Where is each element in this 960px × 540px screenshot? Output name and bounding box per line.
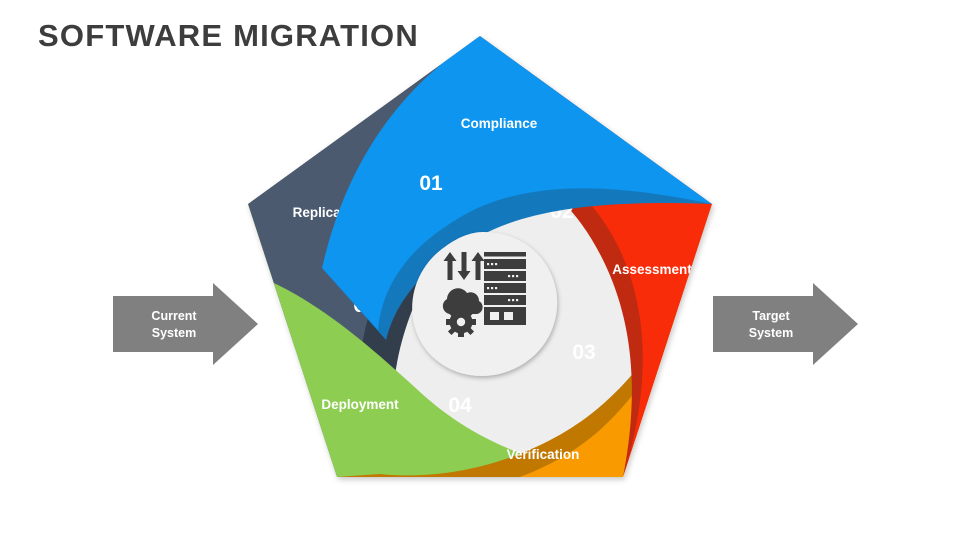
arrow-target-system-line2: System (749, 326, 793, 340)
segment-01-label: Compliance (461, 116, 538, 131)
slide-canvas: SOFTWARE MIGRATION Replication 05 (0, 0, 960, 540)
arrow-target-system[interactable]: Target System (713, 283, 858, 365)
arrow-current-system[interactable]: Current System (113, 283, 258, 365)
arrow-target-system-shape (713, 283, 858, 365)
segment-02-label: Assessment (612, 262, 692, 277)
segment-04-label: Deployment (321, 397, 399, 412)
segment-01-number: 01 (419, 172, 443, 195)
segment-04-number: 04 (448, 394, 472, 417)
arrow-current-system-shape (113, 283, 258, 365)
arrow-current-system-line2: System (152, 326, 196, 340)
arrow-current-system-line1: Current (151, 309, 197, 323)
segment-03-number: 03 (572, 341, 595, 364)
pinwheel-pentagon-diagram: Replication 05 Deployment 04 Verificatio… (0, 0, 960, 540)
segment-03-label: Verification (507, 447, 580, 462)
arrow-target-system-line1: Target (752, 309, 790, 323)
